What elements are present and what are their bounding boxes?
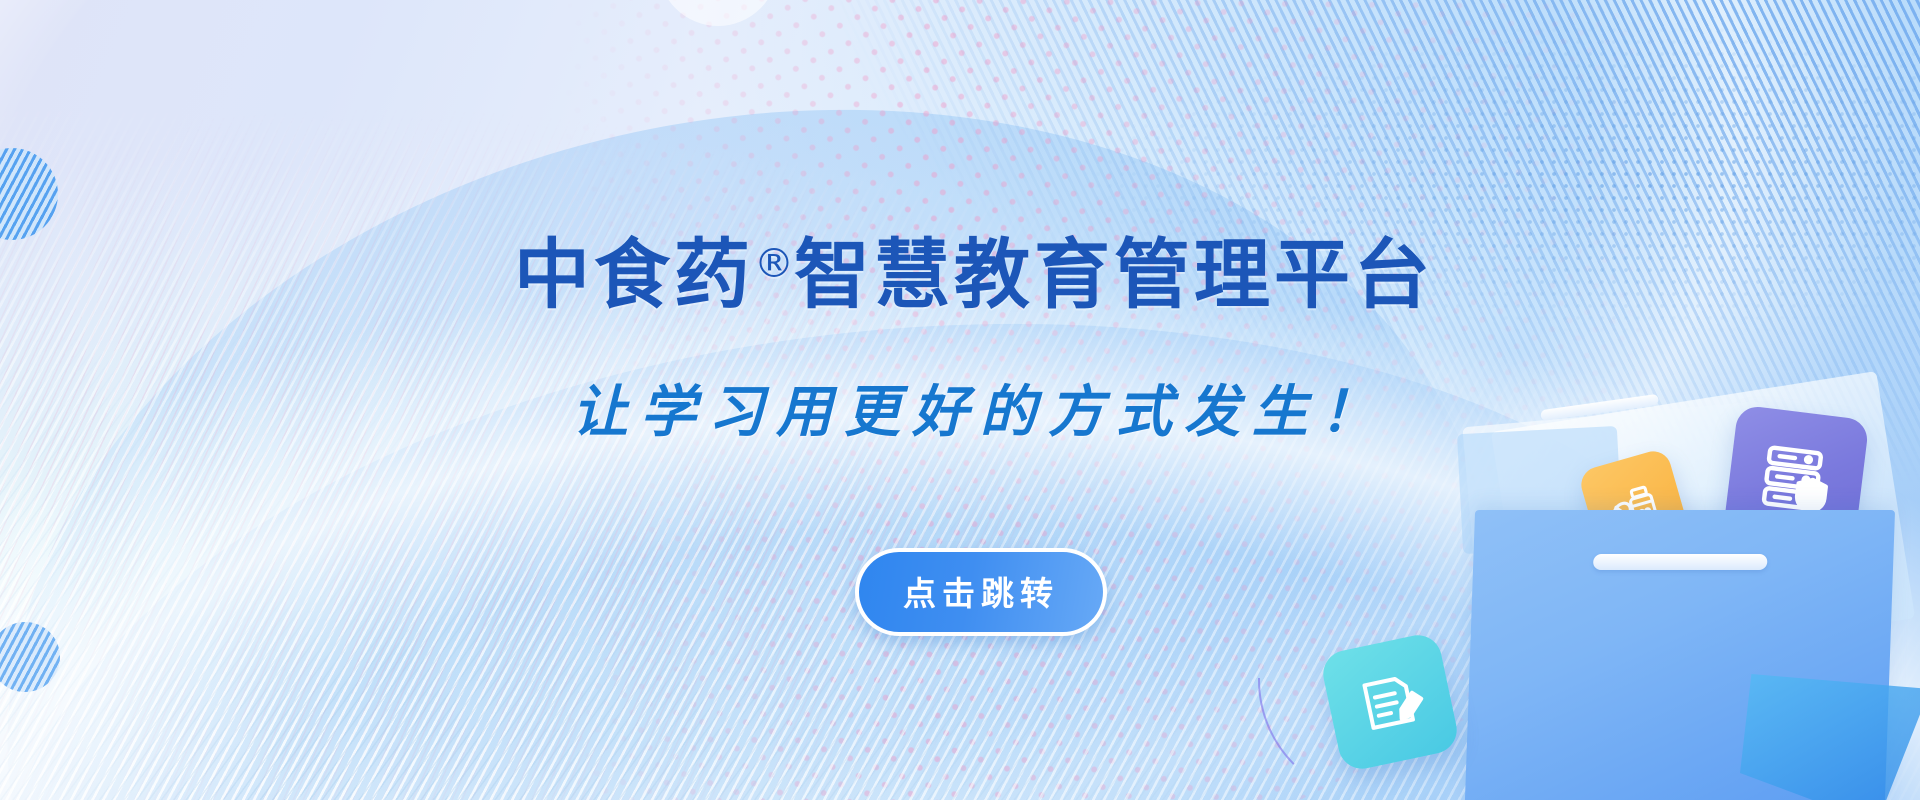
page-subtitle: 让学习用更好的方式发生！	[0, 384, 1920, 440]
page-title: 中食药®智慧教育管理平台	[0, 237, 1920, 313]
jump-button[interactable]: 点击跳转	[855, 548, 1107, 636]
registered-trademark-symbol: ®	[754, 241, 794, 287]
title-rest: 智慧教育管理平台	[794, 230, 1434, 319]
hero-content: 中食药®智慧教育管理平台 让学习用更好的方式发生！ 点击跳转	[0, 0, 1920, 800]
cta-container: 点击跳转	[0, 548, 1920, 636]
title-brand: 中食药	[514, 230, 754, 319]
hero-banner: 中食药®智慧教育管理平台 让学习用更好的方式发生！ 点击跳转	[0, 0, 1920, 800]
